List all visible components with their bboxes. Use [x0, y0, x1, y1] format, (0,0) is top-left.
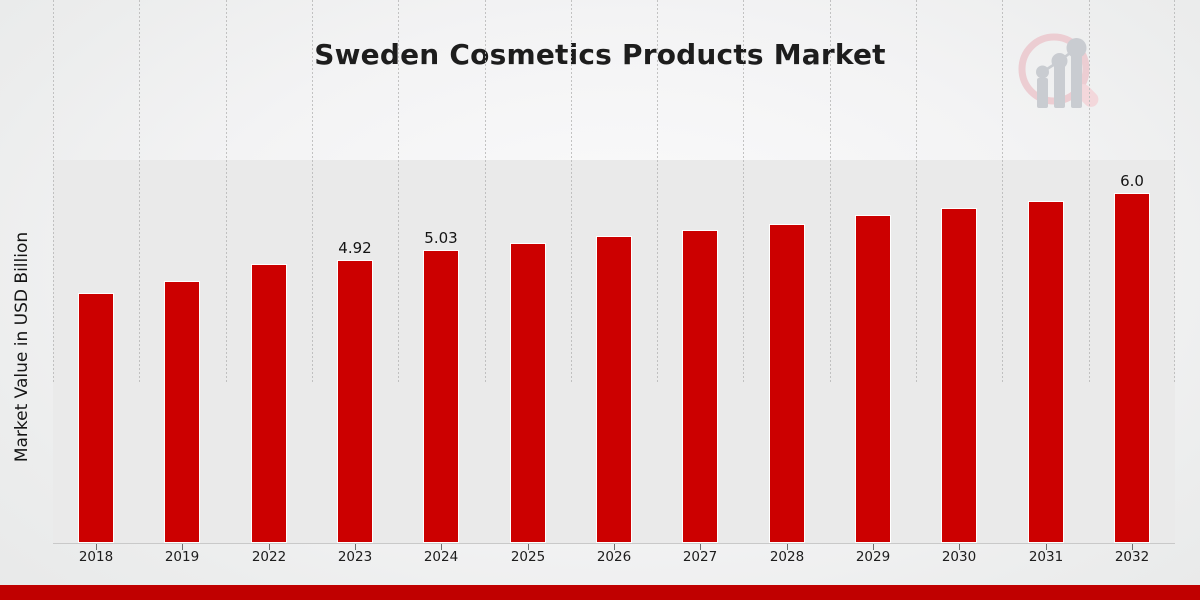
x-tick-label-2025: 2025: [488, 549, 568, 565]
x-tick-label-2030: 2030: [919, 549, 999, 565]
gridline: [1002, 0, 1003, 384]
x-tick-label-2031: 2031: [1006, 549, 1086, 565]
gridline: [830, 0, 831, 384]
x-tick-label-2018: 2018: [56, 549, 136, 565]
x-tick-label-2027: 2027: [660, 549, 740, 565]
x-tick-label-2022: 2022: [229, 549, 309, 565]
gridline: [657, 0, 658, 384]
gridline: [485, 0, 486, 384]
footer-accent-bar: [0, 585, 1200, 600]
bar-2026[interactable]: [596, 236, 632, 543]
bar-value-label-2024: 5.03: [401, 229, 481, 247]
gridline: [226, 0, 227, 384]
x-tick-label-2024: 2024: [401, 549, 481, 565]
x-tick-label-2026: 2026: [574, 549, 654, 565]
gridline: [139, 0, 140, 384]
x-tick-label-2029: 2029: [833, 549, 913, 565]
bar-2023[interactable]: [337, 260, 373, 543]
bar-2030[interactable]: [941, 208, 977, 543]
bar-value-label-2032: 6.0: [1092, 172, 1172, 190]
bar-value-label-2023: 4.92: [315, 239, 395, 257]
gridline: [571, 0, 572, 384]
bar-2032[interactable]: [1114, 193, 1150, 543]
gridline: [53, 0, 54, 384]
gridline: [1089, 0, 1090, 384]
gridline: [398, 0, 399, 384]
gridline: [312, 0, 313, 384]
bar-2029[interactable]: [855, 215, 891, 543]
bar-2031[interactable]: [1028, 201, 1064, 543]
bar-2022[interactable]: [251, 264, 287, 543]
x-tick-label-2028: 2028: [747, 549, 827, 565]
bar-2028[interactable]: [769, 224, 805, 543]
x-tick-label-2032: 2032: [1092, 549, 1172, 565]
chart-page: Sweden Cosmetics Products Market: [0, 0, 1200, 600]
bar-2019[interactable]: [164, 281, 200, 543]
gridline: [916, 0, 917, 384]
y-axis-label: Market Value in USD Billion: [12, 147, 32, 547]
bar-2025[interactable]: [510, 243, 546, 543]
gridline: [743, 0, 744, 384]
bar-2018[interactable]: [78, 293, 114, 543]
bar-2024[interactable]: [423, 250, 459, 543]
x-tick-label-2019: 2019: [142, 549, 222, 565]
x-tick-label-2023: 2023: [315, 549, 395, 565]
bar-2027[interactable]: [682, 230, 718, 543]
magnifier-bar-chart-logo-icon: [1006, 22, 1110, 126]
gridline: [1174, 0, 1175, 384]
chart-header: Sweden Cosmetics Products Market: [0, 0, 1200, 130]
